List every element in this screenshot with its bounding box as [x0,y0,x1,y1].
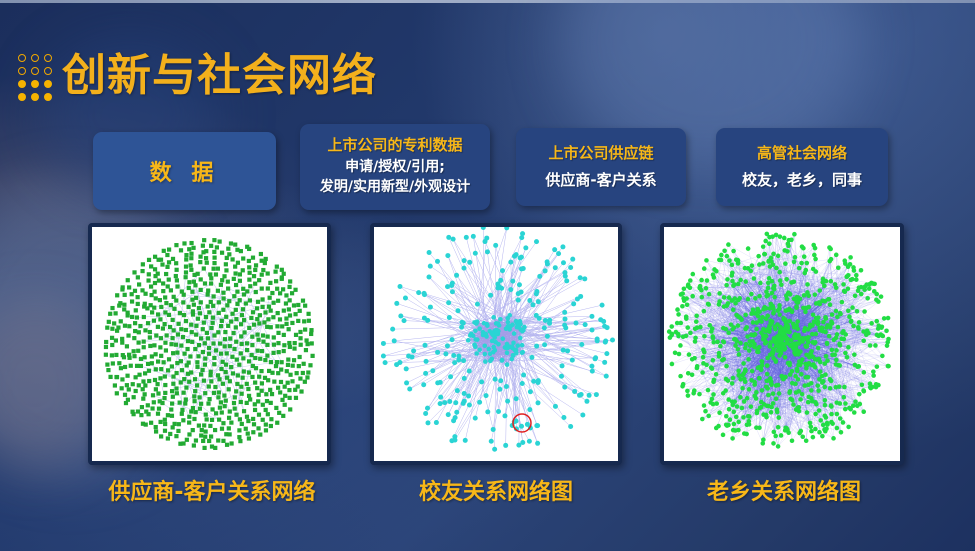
info-box-line: 申请/授权/引用; [345,157,445,177]
caption-supplier-customer: 供应商-客户关系网络 [88,474,336,506]
info-box-title: 高管社会网络 [757,144,847,163]
network-panel-hometown[interactable] [660,223,904,465]
top-divider [0,0,975,3]
network-graph-hometown [664,227,900,461]
info-box-supply-chain[interactable]: 上市公司供应链 供应商-客户关系 [516,128,686,206]
caption-row: 供应商-客户关系网络 校友关系网络图 老乡关系网络图 [0,474,975,508]
caption-alumni: 校友关系网络图 [370,474,622,506]
network-panel-row [0,223,975,471]
dot-grid-icon [18,54,53,102]
network-graph-alumni [374,227,618,461]
network-graph-supplier-customer [92,227,327,461]
network-panel-alumni[interactable] [370,223,622,465]
slide-root: 创新与社会网络 数 据 上市公司的专利数据 申请/授权/引用; 发明/实用新型/… [0,0,975,551]
info-box-line: 供应商-客户关系 [545,170,656,192]
network-panel-supplier-customer[interactable] [88,223,331,465]
info-box-executive-network[interactable]: 高管社会网络 校友，老乡，同事 [716,128,888,206]
info-box-patent[interactable]: 上市公司的专利数据 申请/授权/引用; 发明/实用新型/外观设计 [300,124,490,210]
info-box-data[interactable]: 数 据 [93,132,276,210]
info-box-row: 数 据 上市公司的专利数据 申请/授权/引用; 发明/实用新型/外观设计 上市公… [0,124,975,216]
info-box-title: 上市公司的专利数据 [327,136,462,155]
caption-hometown: 老乡关系网络图 [660,474,908,506]
info-box-title: 数 据 [150,155,220,187]
info-box-line: 校友，老乡，同事 [742,170,862,192]
page-title: 创新与社会网络 [18,50,377,102]
info-box-line: 发明/实用新型/外观设计 [320,177,470,197]
info-box-title: 上市公司供应链 [548,144,653,163]
page-title-text: 创新与社会网络 [62,54,377,98]
